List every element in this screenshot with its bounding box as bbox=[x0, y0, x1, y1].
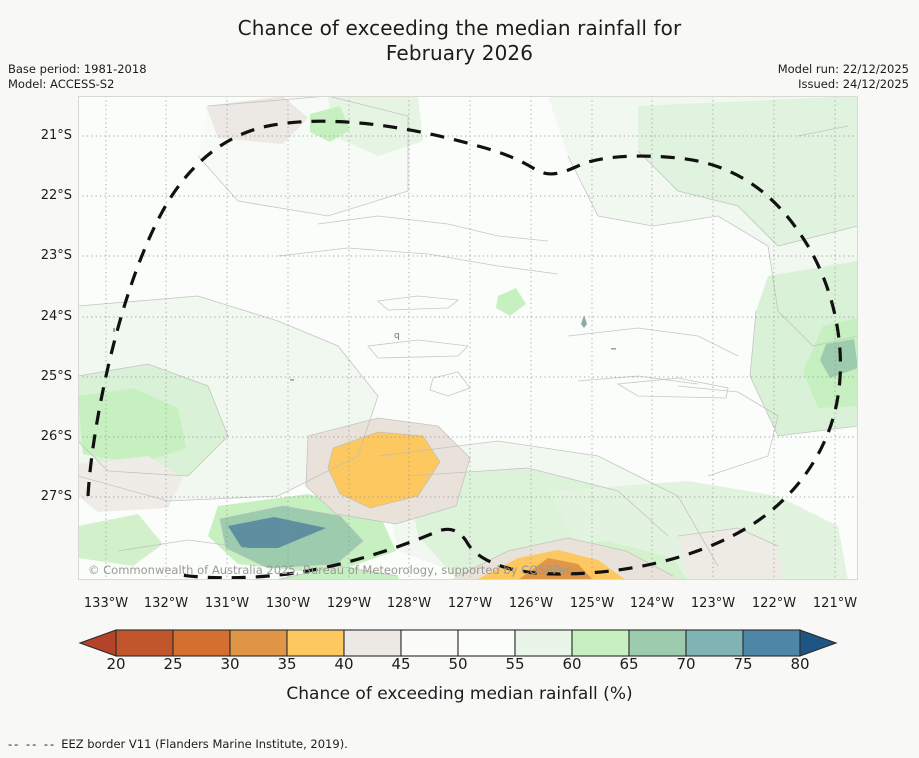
eez-dash-sample: -- -- -- bbox=[8, 737, 56, 751]
colorbar-tick-label: 20 bbox=[86, 655, 146, 673]
colorbar-bin bbox=[686, 630, 743, 656]
map-microlabels: q bbox=[394, 331, 400, 341]
colorbar-tick-label: 60 bbox=[542, 655, 602, 673]
colorbar-bin bbox=[287, 630, 344, 656]
colorbar-bin bbox=[401, 630, 458, 656]
svg-text:q: q bbox=[394, 331, 400, 341]
ytick-label: 26°S bbox=[0, 429, 72, 444]
footnote: -- -- -- EEZ border V11 (Flanders Marine… bbox=[8, 737, 348, 751]
meta-left: Base period: 1981-2018 Model: ACCESS-S2 bbox=[8, 62, 147, 92]
colorbar-bin bbox=[173, 630, 230, 656]
colorbar-tick-label: 50 bbox=[428, 655, 488, 673]
colorbar-tick-label: 75 bbox=[713, 655, 773, 673]
colorbar-tick-label: 25 bbox=[143, 655, 203, 673]
page-title: Chance of exceeding the median rainfall … bbox=[0, 16, 919, 66]
model-label: Model: ACCESS-S2 bbox=[8, 77, 147, 92]
colorbar-bin bbox=[743, 630, 800, 656]
colorbar-bin bbox=[116, 630, 173, 656]
colorbar-bin bbox=[458, 630, 515, 656]
colorbar-tick-label: 80 bbox=[770, 655, 830, 673]
ytick-label: 21°S bbox=[0, 128, 72, 143]
model-run-label: Model run: 22/12/2025 bbox=[778, 62, 909, 77]
colorbar-bin bbox=[515, 630, 572, 656]
meta-right: Model run: 22/12/2025 Issued: 24/12/2025 bbox=[778, 62, 909, 92]
colorbar-tick-label: 30 bbox=[200, 655, 260, 673]
colorbar-tick-label: 65 bbox=[599, 655, 659, 673]
colorbar-bin bbox=[629, 630, 686, 656]
colorbar-tick-label: 40 bbox=[314, 655, 374, 673]
longitude-axis: 133°W 132°W 131°W 130°W 129°W 128°W 127°… bbox=[78, 596, 858, 616]
colorbar-bin bbox=[230, 630, 287, 656]
ytick-label: 24°S bbox=[0, 309, 72, 324]
colorbar-tick-label: 45 bbox=[371, 655, 431, 673]
latitude-axis: 21°S 22°S 23°S 24°S 25°S 26°S 27°S bbox=[0, 96, 72, 580]
xtick-label: 121°W bbox=[797, 596, 873, 611]
colorbar-tick-labels: 20253035404550556065707580 bbox=[78, 655, 838, 677]
ytick-label: 22°S bbox=[0, 188, 72, 203]
colorbar-tick-label: 70 bbox=[656, 655, 716, 673]
colorbar-under-arrow bbox=[80, 630, 116, 656]
ytick-label: 25°S bbox=[0, 369, 72, 384]
colorbar-title: Chance of exceeding median rainfall (%) bbox=[0, 684, 919, 704]
footnote-text: EEZ border V11 (Flanders Marine Institut… bbox=[61, 737, 348, 751]
climate-outlook-figure: Chance of exceeding the median rainfall … bbox=[0, 0, 919, 758]
page-title-line1: Chance of exceeding the median rainfall … bbox=[0, 16, 919, 41]
map-canvas: q bbox=[78, 96, 858, 580]
colorbar-over-arrow bbox=[800, 630, 836, 656]
colorbar-tick-label: 55 bbox=[485, 655, 545, 673]
ytick-label: 27°S bbox=[0, 489, 72, 504]
colorbar-bin bbox=[572, 630, 629, 656]
base-period-label: Base period: 1981-2018 bbox=[8, 62, 147, 77]
issued-label: Issued: 24/12/2025 bbox=[778, 77, 909, 92]
map-plot-area[interactable]: q © Commonwealth of Australia 2025, Bure… bbox=[78, 96, 858, 580]
ytick-label: 23°S bbox=[0, 248, 72, 263]
colorbar-bin bbox=[344, 630, 401, 656]
colorbar-tick-label: 35 bbox=[257, 655, 317, 673]
